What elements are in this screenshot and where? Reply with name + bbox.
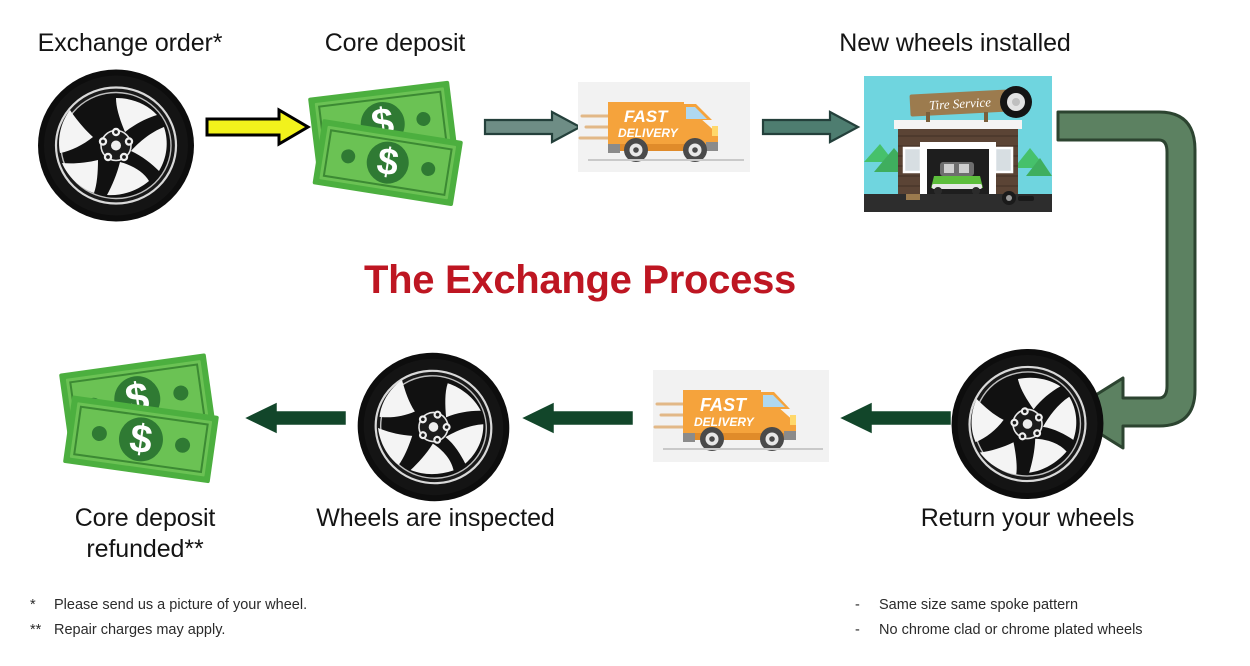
arrow-shipping-to-install [762, 110, 860, 144]
step-label-new-wheels-installed: New wheels installed [805, 28, 1105, 59]
money-bills-icon-refund: $ $ [56, 352, 238, 484]
money-bills-icon: $ $ [306, 78, 478, 206]
truck-text-fast: FAST [700, 395, 748, 415]
fast-delivery-truck-icon-return: FAST DELIVERY [653, 370, 829, 462]
footnotes-left: * Please send us a picture of your wheel… [30, 593, 450, 644]
footnote-marker: - [855, 593, 879, 618]
exchange-process-diagram: Exchange order* Core deposit New wheels … [0, 0, 1250, 666]
fast-delivery-truck-icon: FAST DELIVERY [578, 82, 750, 172]
footnote-row: - No chrome clad or chrome plated wheels [855, 618, 1250, 643]
footnote-marker: * [30, 593, 54, 618]
step-label-wheels-inspected: Wheels are inspected [298, 503, 573, 534]
alloy-wheel-icon [36, 68, 196, 223]
footnote-marker: - [855, 618, 879, 643]
step-label-exchange-order: Exchange order* [10, 28, 250, 59]
arrow-return-to-shipping-back [841, 402, 951, 434]
arrow-shipping-back-to-inspection [523, 402, 633, 434]
footnote-text: Repair charges may apply. [54, 618, 225, 643]
arrow-order-to-deposit [205, 108, 310, 146]
page-title: The Exchange Process [0, 258, 1160, 303]
footnote-row: - Same size same spoke pattern [855, 593, 1250, 618]
step-label-core-deposit-refunded: Core deposit refunded** [25, 503, 265, 564]
step-label-core-deposit: Core deposit [280, 28, 510, 59]
footnote-marker: ** [30, 618, 54, 643]
footnote-row: ** Repair charges may apply. [30, 618, 450, 643]
truck-text-delivery: DELIVERY [694, 415, 755, 429]
arrow-inspection-to-refund [246, 402, 346, 434]
truck-text-fast: FAST [624, 107, 669, 126]
step-label-return-your-wheels: Return your wheels [895, 503, 1160, 534]
footnote-text: Same size same spoke pattern [879, 593, 1078, 618]
truck-text-delivery: DELIVERY [618, 126, 679, 140]
tire-service-shop-icon: Tire Service [864, 76, 1052, 212]
arrow-deposit-to-shipping [484, 110, 582, 144]
footnotes-right: - Same size same spoke pattern - No chro… [855, 593, 1250, 644]
footnote-row: * Please send us a picture of your wheel… [30, 593, 450, 618]
footnote-text: Please send us a picture of your wheel. [54, 593, 307, 618]
footnote-text: No chrome clad or chrome plated wheels [879, 618, 1143, 643]
alloy-wheel-icon-inspected [356, 352, 511, 502]
alloy-wheel-icon-return [950, 348, 1105, 500]
